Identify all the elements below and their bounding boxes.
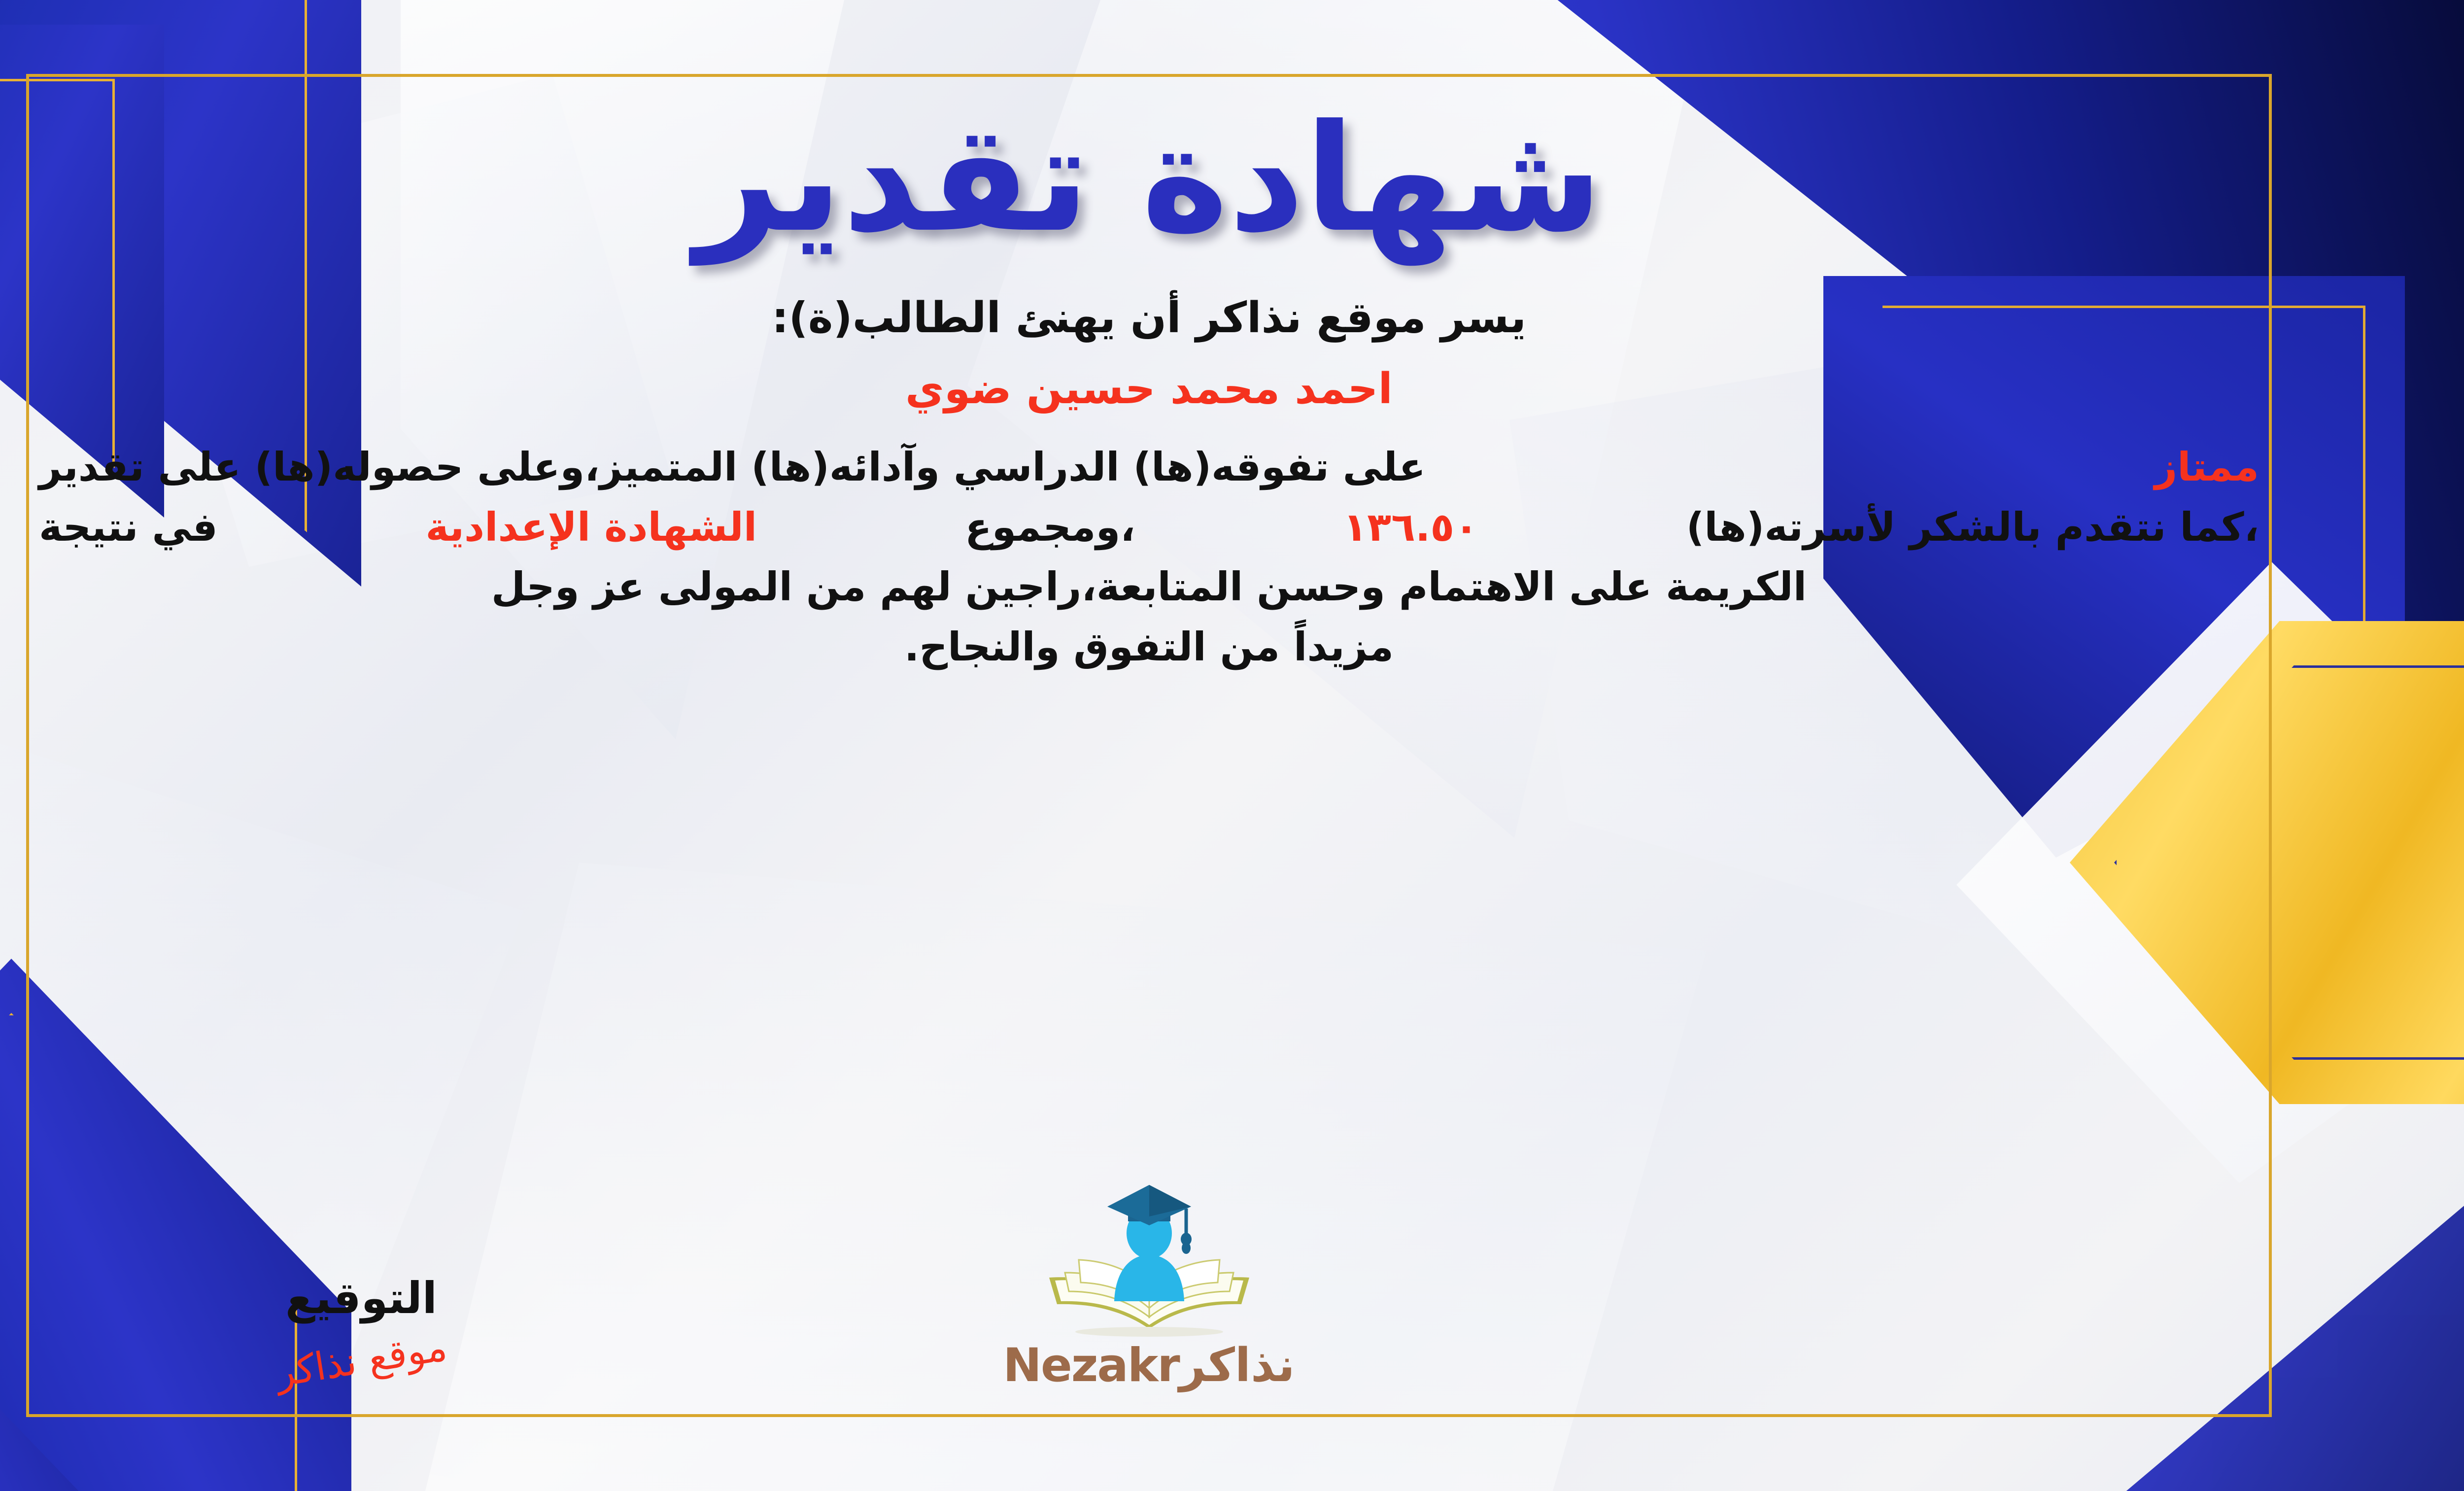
- site-logo: Nezakrنذاكر: [972, 1181, 1327, 1392]
- signature-block: التوقيع موقع نذاكر: [174, 1273, 548, 1383]
- certificate-body: ممتاز على تفوقه(ها) الدراسي وآدائه(ها) ا…: [26, 437, 2272, 677]
- body-line-2: ،كما نتقدم بالشكر لأسرته(ها) ١٣٦.٥٠ ،ومج…: [39, 497, 2259, 557]
- intro-line: يسر موقع نذاكر أن يهنئ الطالب(ة):: [26, 293, 2272, 343]
- certificate-footer: التوقيع موقع نذاكر: [26, 1097, 2272, 1412]
- signature-handwriting: موقع نذاكر: [273, 1325, 450, 1396]
- exam-name: الشهادة الإعدادية: [425, 497, 757, 557]
- signature-label: التوقيع: [174, 1273, 548, 1323]
- logo-latin-text: Nezakr: [1003, 1339, 1179, 1392]
- student-name: احمد محمد حسين ضوي: [26, 364, 2272, 414]
- logo-arabic-text: نذاكر: [1179, 1339, 1295, 1392]
- student-figure-icon: [1114, 1255, 1184, 1301]
- certificate-canvas: شهادة تقدير يسر موقع نذاكر أن يهنئ الطال…: [0, 0, 2464, 1491]
- body-line-1: ممتاز على تفوقه(ها) الدراسي وآدائه(ها) ا…: [39, 437, 2259, 497]
- body-line-1-text: على تفوقه(ها) الدراسي وآدائه(ها) المتميز…: [39, 437, 1426, 497]
- body-line-2-suffix: ،كما نتقدم بالشكر لأسرته(ها): [1686, 497, 2259, 557]
- body-line-2-prefix: في نتيجة: [39, 497, 218, 557]
- logo-artwork: [1043, 1181, 1255, 1344]
- body-line-4: مزيداً من التفوق والنجاح.: [39, 617, 2259, 677]
- body-line-2-mid: ،ومجموع: [965, 497, 1135, 557]
- certificate-content: شهادة تقدير يسر موقع نذاكر أن يهنئ الطال…: [26, 74, 2272, 1417]
- certificate-title: شهادة تقدير: [26, 94, 2272, 264]
- total-score: ١٣٦.٥٠: [1343, 497, 1478, 557]
- logo-wordmark: Nezakrنذاكر: [972, 1339, 1327, 1392]
- body-line-3: الكريمة على الاهتمام وحسن المتابعة،راجين…: [39, 557, 2259, 617]
- grade-value: ممتاز: [2155, 437, 2259, 497]
